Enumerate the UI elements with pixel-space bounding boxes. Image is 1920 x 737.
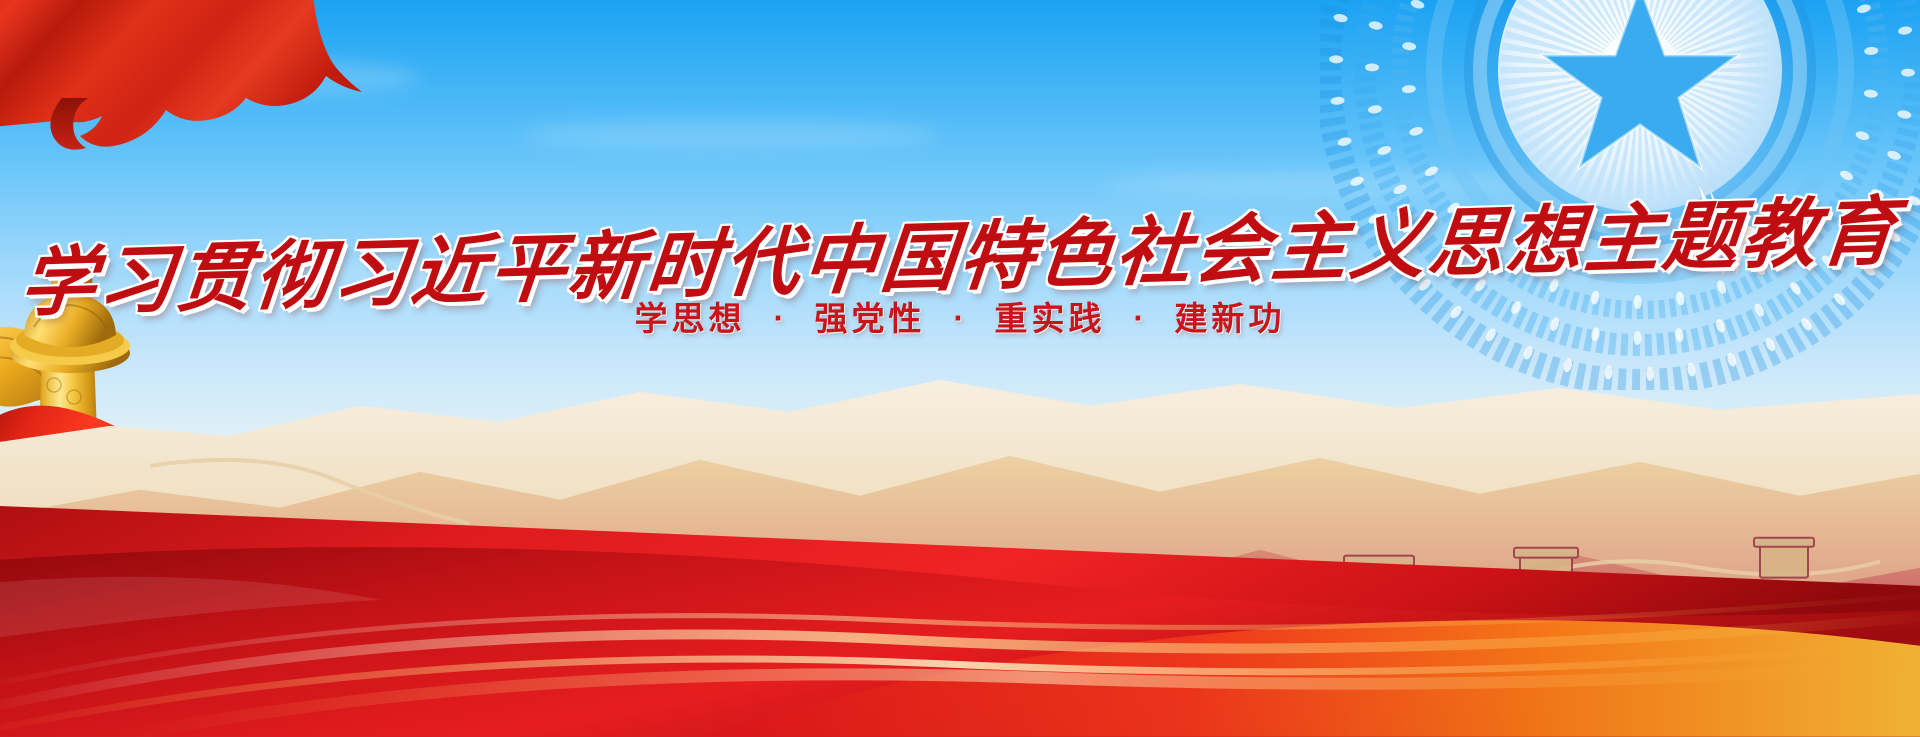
subtitle: 学思想 · 强党性 · 重实践 · 建新功 <box>635 292 1286 340</box>
mountain-ridge-mid <box>0 455 1920 737</box>
subtitle-container: 学思想 · 强党性 · 重实践 · 建新功 <box>0 292 1920 340</box>
silk-fold-highlight <box>0 577 380 640</box>
subtitle-separator: · <box>1133 304 1147 334</box>
main-title-container: 学习贯彻习近平新时代中国特色社会主义思想主题教育 <box>0 196 1920 305</box>
silk-band-warm <box>700 621 1920 737</box>
landscape-texture <box>597 626 1383 667</box>
great-wall-line <box>150 460 1880 610</box>
ribbon-lower-sweep <box>0 458 298 575</box>
silk-band-upper <box>0 506 1920 737</box>
mountain-ridge-near <box>0 549 1920 737</box>
mountain-ridge-foreground <box>380 639 1920 737</box>
great-wall-towers <box>1344 537 1814 603</box>
propaganda-banner: 学习贯彻习近平新时代中国特色社会主义思想主题教育 学思想 · 强党性 · 重实践… <box>0 0 1920 737</box>
subtitle-separator: · <box>953 304 967 334</box>
cloud-wisp <box>520 120 940 150</box>
subtitle-part-2: 强党性 <box>815 299 926 338</box>
subtitle-separator: · <box>773 304 787 334</box>
silk-band-mid <box>0 547 1920 737</box>
subtitle-part-4: 建新功 <box>1174 299 1285 338</box>
subtitle-part-3: 重实践 <box>994 299 1105 338</box>
cloud-wisp <box>120 60 420 96</box>
silk-light-streaks <box>0 592 1920 737</box>
bottom-red-silk-wave <box>0 464 1920 737</box>
ribbon-tail <box>234 523 346 575</box>
subtitle-part-1: 学思想 <box>635 299 746 338</box>
